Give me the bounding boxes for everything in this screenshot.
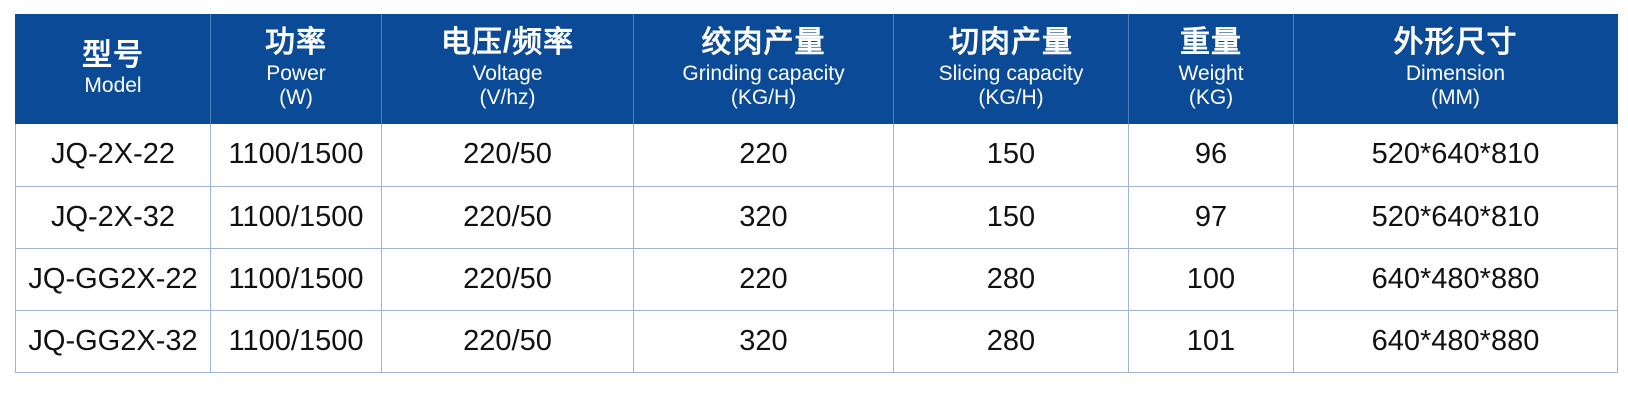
column-header-weight-en: Weight xyxy=(1133,62,1289,86)
column-header-dimension-cn: 外形尺寸 xyxy=(1298,25,1613,60)
cell-slicing: 150 xyxy=(894,124,1129,186)
cell-model: JQ-2X-22 xyxy=(16,124,211,186)
column-header-weight-unit: (KG) xyxy=(1133,86,1289,110)
cell-power: 1100/1500 xyxy=(211,248,382,310)
cell-dimension: 520*640*810 xyxy=(1294,186,1618,248)
cell-grinding: 320 xyxy=(634,186,894,248)
cell-voltage: 220/50 xyxy=(382,124,634,186)
column-header-slicing-capacity: 切肉产量 Slicing capacity (KG/H) xyxy=(894,14,1129,124)
cell-grinding: 220 xyxy=(634,124,894,186)
column-header-dimension-en: Dimension xyxy=(1298,62,1613,86)
cell-slicing: 150 xyxy=(894,186,1129,248)
column-header-power-unit: (W) xyxy=(215,86,377,110)
column-header-dimension-unit: (MM) xyxy=(1298,86,1613,110)
cell-weight: 97 xyxy=(1129,186,1294,248)
specification-table: 型号 Model 功率 Power (W) 电压/频率 Voltage (V/h… xyxy=(15,14,1618,373)
table-row: JQ-2X-22 1100/1500 220/50 220 150 96 520… xyxy=(16,124,1618,186)
column-header-power-cn: 功率 xyxy=(215,25,377,60)
column-header-weight-cn: 重量 xyxy=(1133,25,1289,60)
column-header-voltage-en: Voltage xyxy=(386,62,629,86)
column-header-grinding-capacity-en: Grinding capacity xyxy=(638,62,889,86)
column-header-model-cn: 型号 xyxy=(20,38,206,73)
cell-model: JQ-2X-32 xyxy=(16,186,211,248)
cell-slicing: 280 xyxy=(894,310,1129,372)
table-header: 型号 Model 功率 Power (W) 电压/频率 Voltage (V/h… xyxy=(16,14,1618,124)
cell-weight: 96 xyxy=(1129,124,1294,186)
cell-dimension: 640*480*880 xyxy=(1294,310,1618,372)
table-body: JQ-2X-22 1100/1500 220/50 220 150 96 520… xyxy=(16,124,1618,372)
column-header-grinding-capacity: 绞肉产量 Grinding capacity (KG/H) xyxy=(634,14,894,124)
cell-grinding: 220 xyxy=(634,248,894,310)
cell-model: JQ-GG2X-22 xyxy=(16,248,211,310)
cell-power: 1100/1500 xyxy=(211,186,382,248)
cell-voltage: 220/50 xyxy=(382,186,634,248)
table-row: JQ-2X-32 1100/1500 220/50 320 150 97 520… xyxy=(16,186,1618,248)
column-header-power: 功率 Power (W) xyxy=(211,14,382,124)
column-header-dimension: 外形尺寸 Dimension (MM) xyxy=(1294,14,1618,124)
cell-weight: 101 xyxy=(1129,310,1294,372)
cell-voltage: 220/50 xyxy=(382,248,634,310)
column-header-power-en: Power xyxy=(215,62,377,86)
column-header-voltage: 电压/频率 Voltage (V/hz) xyxy=(382,14,634,124)
column-header-grinding-capacity-unit: (KG/H) xyxy=(638,86,889,110)
table-row: JQ-GG2X-22 1100/1500 220/50 220 280 100 … xyxy=(16,248,1618,310)
cell-dimension: 520*640*810 xyxy=(1294,124,1618,186)
cell-model: JQ-GG2X-32 xyxy=(16,310,211,372)
table-header-row: 型号 Model 功率 Power (W) 电压/频率 Voltage (V/h… xyxy=(16,14,1618,124)
column-header-model: 型号 Model xyxy=(16,14,211,124)
column-header-slicing-capacity-unit: (KG/H) xyxy=(898,86,1124,110)
column-header-voltage-unit: (V/hz) xyxy=(386,86,629,110)
cell-grinding: 320 xyxy=(634,310,894,372)
table-row: JQ-GG2X-32 1100/1500 220/50 320 280 101 … xyxy=(16,310,1618,372)
cell-slicing: 280 xyxy=(894,248,1129,310)
specification-sheet: 型号 Model 功率 Power (W) 电压/频率 Voltage (V/h… xyxy=(0,0,1628,411)
column-header-grinding-capacity-cn: 绞肉产量 xyxy=(638,25,889,60)
column-header-weight: 重量 Weight (KG) xyxy=(1129,14,1294,124)
column-header-slicing-capacity-en: Slicing capacity xyxy=(898,62,1124,86)
cell-voltage: 220/50 xyxy=(382,310,634,372)
cell-power: 1100/1500 xyxy=(211,310,382,372)
cell-dimension: 640*480*880 xyxy=(1294,248,1618,310)
cell-power: 1100/1500 xyxy=(211,124,382,186)
column-header-slicing-capacity-cn: 切肉产量 xyxy=(898,25,1124,60)
column-header-voltage-cn: 电压/频率 xyxy=(386,25,629,60)
cell-weight: 100 xyxy=(1129,248,1294,310)
column-header-model-en: Model xyxy=(20,74,206,98)
